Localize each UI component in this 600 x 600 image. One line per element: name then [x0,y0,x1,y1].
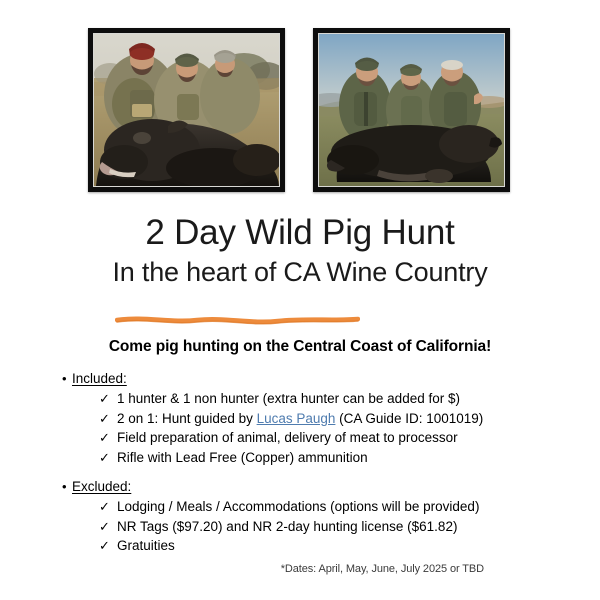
photo-inner-right [318,33,505,187]
wavy-rule-icon [115,310,360,328]
list-item-text: 2 on 1: Hunt guided by [117,411,257,426]
title-block: 2 Day Wild Pig Hunt In the heart of CA W… [0,212,600,289]
check-icon: ✓ [99,536,110,556]
check-icon: ✓ [99,448,110,468]
list-item-text: Gratuities [117,538,175,553]
bullet-icon: • [62,477,67,497]
check-icon: ✓ [99,497,110,517]
list-item: ✓ 1 hunter & 1 non hunter (extra hunter … [0,389,600,409]
page-title: 2 Day Wild Pig Hunt [0,212,600,254]
guide-link[interactable]: Lucas Paugh [257,411,336,426]
page-subtitle: In the heart of CA Wine Country [0,255,600,289]
list-item: ✓ NR Tags ($97.20) and NR 2-day hunting … [0,517,600,537]
bullet-icon: • [62,369,67,389]
photo-frame-right[interactable] [313,28,510,192]
photo-left [94,34,279,186]
list-item: ✓ 2 on 1: Hunt guided by Lucas Paugh (CA… [0,409,600,429]
excluded-section: • Excluded: ✓ Lodging / Meals / Accommod… [0,477,600,556]
list-item: ✓ Gratuities [0,536,600,556]
list-item: ✓ Lodging / Meals / Accommodations (opti… [0,497,600,517]
check-icon: ✓ [99,409,110,429]
list-item-text: Rifle with Lead Free (Copper) ammunition [117,450,368,465]
included-section: • Included: ✓ 1 hunter & 1 non hunter (e… [0,369,600,467]
tagline: Come pig hunting on the Central Coast of… [0,338,600,356]
included-label: Included: [72,371,127,386]
excluded-label: Excluded: [72,479,131,494]
list-item-text: Field preparation of animal, delivery of… [117,430,458,445]
dates-footnote: *Dates: April, May, June, July 2025 or T… [0,563,484,575]
list-item-text: NR Tags ($97.20) and NR 2-day hunting li… [117,519,457,534]
photo-right [319,34,504,186]
list-item: ✓ Rifle with Lead Free (Copper) ammuniti… [0,448,600,468]
photo-inner-left [93,33,280,187]
photo-band [0,28,600,192]
list-item: ✓ Field preparation of animal, delivery … [0,428,600,448]
check-icon: ✓ [99,428,110,448]
list-item-text-tail: (CA Guide ID: 1001019) [335,411,483,426]
included-heading: • Included: [0,369,600,389]
list-item-text: 1 hunter & 1 non hunter (extra hunter ca… [117,391,460,406]
check-icon: ✓ [99,389,110,409]
excluded-heading: • Excluded: [0,477,600,497]
list-item-text: Lodging / Meals / Accommodations (option… [117,499,479,514]
photo-frame-left[interactable] [88,28,285,192]
check-icon: ✓ [99,517,110,537]
